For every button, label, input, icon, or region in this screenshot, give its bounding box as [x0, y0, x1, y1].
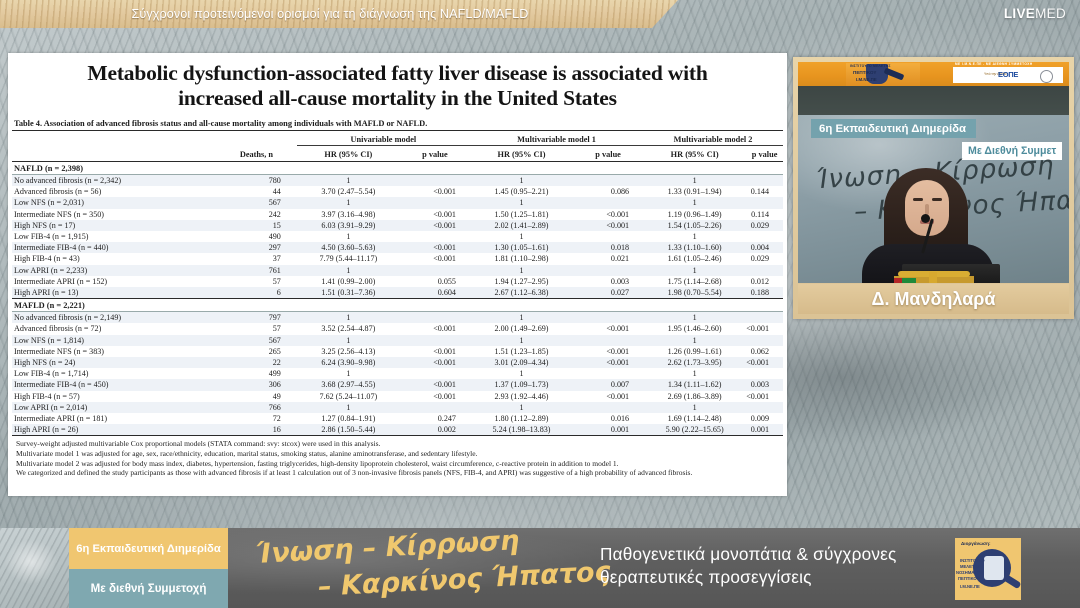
table-cell	[573, 312, 643, 324]
table-cell: High FIB-4 (n = 43)	[12, 253, 216, 264]
table-cell: 0.055	[400, 276, 470, 287]
table-cell: 49	[216, 391, 297, 402]
table-cell: 2.67 (1.12–6.38)	[470, 287, 573, 299]
table-cell	[400, 265, 470, 276]
table-cell: Low FIB-4 (n = 1,714)	[12, 368, 216, 379]
footer-main-line-2: θεραπευτικές προσεγγίσεις	[600, 566, 896, 589]
table-cell: <0.001	[400, 323, 470, 334]
table-cell: Advanced fibrosis (n = 72)	[12, 323, 216, 334]
table-cell: 567	[216, 197, 297, 208]
table-row: No advanced fibrosis (n = 2,149)797111	[12, 312, 783, 324]
group-header-model1: Multivariable model 1	[470, 131, 643, 146]
table-cell: 0.086	[573, 186, 643, 197]
table-cell: 1.37 (1.09–1.73)	[470, 379, 573, 390]
table-row: High APRI (n = 13)61.51 (0.31–7.36)0.604…	[12, 287, 783, 299]
table-row: Low APRI (n = 2,233)761111	[12, 265, 783, 276]
table-cell: 1	[297, 231, 400, 242]
section-label: NAFLD (n = 2,398)	[12, 162, 783, 175]
video-top-banner: ΙΝΣΤΙΤΟΥΤΟ ΜΕΛΕΤΗΣ ΠΕΠΤΙΚΟΥ Ι.Μ.ΝΕ.ΠΕ ΜΕ…	[798, 62, 1069, 87]
table-cell: 1	[297, 197, 400, 208]
table-row: High FIB-4 (n = 57)497.62 (5.24–11.07)<0…	[12, 391, 783, 402]
group-header-model2: Multivariable model 2	[643, 131, 783, 146]
table-cell: Low FIB-4 (n = 1,915)	[12, 231, 216, 242]
crest-text-3: Ι.Μ.ΝΕ.ΠΕ	[856, 77, 877, 82]
table-cell: 6	[216, 287, 297, 299]
table-cell: 1.98 (0.70–5.54)	[643, 287, 746, 299]
table-cell: 1	[297, 312, 400, 324]
table-cell: 0.021	[573, 253, 643, 264]
table-cell: 1.30 (1.05–1.61)	[470, 242, 573, 253]
table-row: No advanced fibrosis (n = 2,342)780111	[12, 175, 783, 187]
table-row: Intermediate NFS (n = 350)2423.97 (3.16–…	[12, 209, 783, 220]
table-cell: 57	[216, 323, 297, 334]
col-header-p-m2: p value	[746, 146, 783, 162]
logo-line-5: Ι.Μ.ΝΕ.ΠΕ	[960, 584, 980, 589]
table-cell: 761	[216, 265, 297, 276]
table-cell: 2.86 (1.50–5.44)	[297, 424, 400, 436]
table-cell: <0.001	[400, 186, 470, 197]
table-cell: Intermediate FIB-4 (n = 440)	[12, 242, 216, 253]
table-cell: 3.68 (2.97–4.55)	[297, 379, 400, 390]
table-cell: Intermediate NFS (n = 350)	[12, 209, 216, 220]
crest-text-1: ΙΝΣΤΙΤΟΥΤΟ ΜΕΛΕΤΗΣ	[850, 64, 891, 68]
crest-text-2: ΠΕΠΤΙΚΟΥ	[853, 70, 876, 75]
table-cell: 1	[297, 335, 400, 346]
table-cell: 1	[470, 312, 573, 324]
footnote-1: Survey-weight adjusted multivariable Cox…	[16, 439, 777, 449]
table-cell: <0.001	[746, 391, 783, 402]
video-frame[interactable]: 6η Εκπαιδευτική Διημερίδα Με Διεθνή Συμμ…	[798, 86, 1069, 283]
table-cell: 1	[643, 231, 746, 242]
table-cell: <0.001	[573, 209, 643, 220]
table-cell: 2.62 (1.73–3.95)	[643, 357, 746, 368]
livemed-light: MED	[1035, 6, 1066, 21]
table-cell: 0.247	[400, 413, 470, 424]
table-cell: Intermediate NFS (n = 383)	[12, 346, 216, 357]
footnote-4: We categorized and defined the study par…	[16, 468, 777, 478]
table-cell: 1.33 (0.91–1.94)	[643, 186, 746, 197]
table-cell: 3.97 (3.16–4.98)	[297, 209, 400, 220]
table-cell: 1.95 (1.46–2.60)	[643, 323, 746, 334]
table-cell: <0.001	[400, 379, 470, 390]
footer-banner: 6η Εκπαιδευτική Διημερίδα Με διεθνή Συμμ…	[0, 528, 1080, 608]
table-cell: 1	[470, 175, 573, 187]
table-row: High NFS (n = 24)226.24 (3.90–9.98)<0.00…	[12, 357, 783, 368]
table-cell: 1	[643, 312, 746, 324]
table-section-header: NAFLD (n = 2,398)	[12, 162, 783, 175]
results-table: Univariable model Multivariable model 1 …	[12, 130, 783, 436]
table-cell: 1	[470, 402, 573, 413]
table-cell: 1	[297, 265, 400, 276]
microphone-icon	[921, 214, 930, 223]
table-cell: 0.029	[746, 220, 783, 231]
table-cell: 0.144	[746, 186, 783, 197]
table-cell: Advanced fibrosis (n = 56)	[12, 186, 216, 197]
table-cell: <0.001	[400, 357, 470, 368]
table-cell: 7.79 (5.44–11.17)	[297, 253, 400, 264]
organizer-logo: Διοργάνωση: ΙΝΣΤΙΤΟΥΤΟ ΜΕΛΕΤΗΣ ΝΟΣΗΜΑΤΩΝ…	[955, 538, 1021, 600]
table-cell	[573, 335, 643, 346]
table-cell: 1	[643, 335, 746, 346]
table-cell: <0.001	[573, 391, 643, 402]
table-cell: 1	[643, 265, 746, 276]
table-row: Intermediate APRI (n = 181)721.27 (0.84–…	[12, 413, 783, 424]
table-cell: <0.001	[573, 323, 643, 334]
table-cell: <0.001	[573, 346, 643, 357]
table-cell: 1.75 (1.14–2.68)	[643, 276, 746, 287]
session-title: Σύγχρονοι προτεινόμενοι ορισμοί για τη δ…	[0, 0, 660, 28]
table-cell: 499	[216, 368, 297, 379]
table-cell: 567	[216, 335, 297, 346]
col-header-p-m1: p value	[573, 146, 643, 162]
table-cell: <0.001	[400, 391, 470, 402]
table-cell: 0.009	[746, 413, 783, 424]
table-cell: 0.604	[400, 287, 470, 299]
table-cell	[573, 175, 643, 187]
section-label: MAFLD (n = 2,221)	[12, 299, 783, 312]
table-cell: <0.001	[400, 220, 470, 231]
col-header-p-uni: p value	[400, 146, 470, 162]
table-cell: 16	[216, 424, 297, 436]
table-cell: 265	[216, 346, 297, 357]
table-cell: <0.001	[746, 323, 783, 334]
table-cell: 0.003	[746, 379, 783, 390]
table-cell: 1.51 (1.23–1.85)	[470, 346, 573, 357]
table-cell: 1.26 (0.99–1.61)	[643, 346, 746, 357]
table-footnotes: Survey-weight adjusted multivariable Cox…	[12, 436, 783, 477]
podium-green-light	[902, 278, 916, 283]
logo-magnifier-handle-icon	[1003, 574, 1022, 589]
table-cell: 3.01 (2.09–4.34)	[470, 357, 573, 368]
table-cell: Low APRI (n = 2,014)	[12, 402, 216, 413]
video-overlay-tag-1: 6η Εκπαιδευτική Διημερίδα	[811, 119, 976, 138]
footer-artwork	[0, 528, 69, 608]
table-row: Low FIB-4 (n = 1,714)499111	[12, 368, 783, 379]
table-row: Low NFS (n = 1,814)567111	[12, 335, 783, 346]
col-header-blank	[12, 146, 216, 162]
table-cell: Intermediate APRI (n = 181)	[12, 413, 216, 424]
table-cell: No advanced fibrosis (n = 2,342)	[12, 175, 216, 187]
table-cell	[746, 197, 783, 208]
footnote-2: Multivariate model 1 was adjusted for ag…	[16, 449, 777, 459]
logo-line-2: ΜΕΛΕΤΗΣ	[960, 564, 980, 569]
table-cell	[400, 197, 470, 208]
table-cell: Intermediate APRI (n = 152)	[12, 276, 216, 287]
table-cell	[746, 402, 783, 413]
table-cell: 5.90 (2.22–15.65)	[643, 424, 746, 436]
table-cell: 57	[216, 276, 297, 287]
table-cell: High APRI (n = 13)	[12, 287, 216, 299]
table-cell: 780	[216, 175, 297, 187]
footer-main-line-1: Παθογενετικά μονοπάτια & σύγχρονες	[600, 543, 896, 566]
table-cell: Low NFS (n = 2,031)	[12, 197, 216, 208]
table-cell: 1.50 (1.25–1.81)	[470, 209, 573, 220]
table-cell: High APRI (n = 26)	[12, 424, 216, 436]
table-cell: 2.69 (1.86–3.89)	[643, 391, 746, 402]
livemed-logo: LIVEMED	[1004, 6, 1066, 21]
table-cell	[573, 197, 643, 208]
group-header-row: Univariable model Multivariable model 1 …	[12, 131, 783, 146]
table-row: High NFS (n = 17)156.03 (3.91–9.29)<0.00…	[12, 220, 783, 231]
table-cell: 242	[216, 209, 297, 220]
table-cell	[573, 265, 643, 276]
seal-icon	[1040, 70, 1053, 83]
table-cell: 1.33 (1.10–1.60)	[643, 242, 746, 253]
table-cell: 37	[216, 253, 297, 264]
organizer-label: Διοργάνωση:	[961, 541, 991, 546]
table-cell	[573, 368, 643, 379]
table-cell: No advanced fibrosis (n = 2,149)	[12, 312, 216, 324]
table-row: Intermediate NFS (n = 383)2653.25 (2.56–…	[12, 346, 783, 357]
livemed-bold: LIVE	[1004, 6, 1035, 21]
table-cell: 0.003	[573, 276, 643, 287]
table-cell: 3.52 (2.54–4.87)	[297, 323, 400, 334]
table-cell: 0.114	[746, 209, 783, 220]
table-cell: 0.001	[573, 424, 643, 436]
speaker-eye-right	[932, 198, 942, 201]
table-head: Univariable model Multivariable model 1 …	[12, 131, 783, 162]
slide-title: Metabolic dysfunction-associated fatty l…	[8, 53, 787, 116]
presentation-slide: Metabolic dysfunction-associated fatty l…	[8, 53, 787, 496]
table-cell: 7.62 (5.24–11.07)	[297, 391, 400, 402]
table-cell: Intermediate FIB-4 (n = 450)	[12, 379, 216, 390]
table-cell	[746, 312, 783, 324]
table-cell: 1.81 (1.10–2.98)	[470, 253, 573, 264]
table-row: High FIB-4 (n = 43)377.79 (5.44–11.17)<0…	[12, 253, 783, 264]
speaker-eye-left	[913, 198, 923, 201]
table-cell: 1.41 (0.99–2.00)	[297, 276, 400, 287]
table-cell: 4.50 (3.60–5.63)	[297, 242, 400, 253]
logo-line-4: ΠΕΠΤΙΚΟΥ	[958, 576, 979, 581]
table-cell: 2.02 (1.41–2.89)	[470, 220, 573, 231]
table-row: Low FIB-4 (n = 1,915)490111	[12, 231, 783, 242]
table-row: High APRI (n = 26)162.86 (1.50–5.44)0.00…	[12, 424, 783, 436]
table-cell	[746, 265, 783, 276]
stage-dark-band	[798, 86, 1069, 115]
table-cell: 297	[216, 242, 297, 253]
table-cell	[400, 312, 470, 324]
table-cell	[400, 231, 470, 242]
table-cell	[573, 402, 643, 413]
top-header-bar: Σύγχρονοι προτεινόμενοι ορισμοί για τη δ…	[0, 0, 1080, 28]
col-header-hr-m2: HR (95% CI)	[643, 146, 746, 162]
table-cell: 306	[216, 379, 297, 390]
table-cell: 1	[470, 231, 573, 242]
table-cell: <0.001	[400, 253, 470, 264]
table-cell: 766	[216, 402, 297, 413]
table-cell: 72	[216, 413, 297, 424]
table-cell: <0.001	[400, 346, 470, 357]
table-cell: 2.93 (1.92–4.46)	[470, 391, 573, 402]
table-cell: 0.001	[746, 424, 783, 436]
podium-stem	[929, 272, 937, 283]
table-cell: High NFS (n = 17)	[12, 220, 216, 231]
table-cell: Low NFS (n = 1,814)	[12, 335, 216, 346]
table-cell: 0.012	[746, 276, 783, 287]
table-cell: 1.61 (1.05–2.46)	[643, 253, 746, 264]
table-cell: 1	[470, 265, 573, 276]
table-cell: <0.001	[573, 220, 643, 231]
table-cell: 6.03 (3.91–9.29)	[297, 220, 400, 231]
table-cell: 1.45 (0.95–2.21)	[470, 186, 573, 197]
table-cell: Low APRI (n = 2,233)	[12, 265, 216, 276]
table-cell: 1.80 (1.12–2.89)	[470, 413, 573, 424]
table-row: Low NFS (n = 2,031)567111	[12, 197, 783, 208]
col-header-hr-uni: HR (95% CI)	[297, 146, 400, 162]
table-row: Advanced fibrosis (n = 72)573.52 (2.54–4…	[12, 323, 783, 334]
table-row: Intermediate FIB-4 (n = 450)3063.68 (2.9…	[12, 379, 783, 390]
table-cell: 1	[643, 368, 746, 379]
table-cell: 1.69 (1.14–2.48)	[643, 413, 746, 424]
table-cell	[573, 231, 643, 242]
table-cell	[400, 402, 470, 413]
table-cell: 0.027	[573, 287, 643, 299]
table-cell: 490	[216, 231, 297, 242]
table-cell: <0.001	[400, 242, 470, 253]
table-cell: <0.001	[400, 209, 470, 220]
speaker-name: Δ. Μανδηλαρά	[798, 284, 1069, 314]
table-cell	[400, 335, 470, 346]
table-cell: 44	[216, 186, 297, 197]
table-cell	[746, 335, 783, 346]
table-cell: 0.007	[573, 379, 643, 390]
table-cell	[400, 368, 470, 379]
table-cell: 1	[470, 335, 573, 346]
table-cell: 1	[297, 402, 400, 413]
table-cell: 1.34 (1.11–1.62)	[643, 379, 746, 390]
table-cell: 6.24 (3.90–9.98)	[297, 357, 400, 368]
banner-top-text: ΜΕ Ι.Μ.Ν.Ε.ΠΕ - ΜΕ ΔΙΕΘΝΗ ΣΥΜΜΕΤΟΧΗ	[955, 62, 1033, 66]
table-cell: High NFS (n = 24)	[12, 357, 216, 368]
table-cell: 3.70 (2.47–5.54)	[297, 186, 400, 197]
table-cell: 1	[643, 175, 746, 187]
col-header-deaths: Deaths, n	[216, 146, 297, 162]
table-cell: 0.016	[573, 413, 643, 424]
table-cell: 1	[643, 197, 746, 208]
table-cell: 1	[470, 197, 573, 208]
table-cell: <0.001	[746, 357, 783, 368]
table-row: Advanced fibrosis (n = 56)443.70 (2.47–5…	[12, 186, 783, 197]
table-row: Low APRI (n = 2,014)766111	[12, 402, 783, 413]
table-section-header: MAFLD (n = 2,221)	[12, 299, 783, 312]
table-cell: 1	[297, 175, 400, 187]
table-row: Intermediate APRI (n = 152)571.41 (0.99–…	[12, 276, 783, 287]
table-cell: 0.062	[746, 346, 783, 357]
table-cell: 1	[470, 368, 573, 379]
footer-main-text: Παθογενετικά μονοπάτια & σύγχρονες θεραπ…	[600, 543, 896, 589]
table-row: Intermediate FIB-4 (n = 440)2974.50 (3.6…	[12, 242, 783, 253]
column-header-row: Deaths, n HR (95% CI) p value HR (95% CI…	[12, 146, 783, 162]
table-cell: 0.018	[573, 242, 643, 253]
table-cell: 22	[216, 357, 297, 368]
table-cell: <0.001	[573, 357, 643, 368]
table-cell	[746, 175, 783, 187]
table-cell: 0.002	[400, 424, 470, 436]
table-cell: 1	[297, 368, 400, 379]
table-body: NAFLD (n = 2,398)No advanced fibrosis (n…	[12, 162, 783, 437]
group-header-univariable: Univariable model	[297, 131, 470, 146]
table-cell: 5.24 (1.98–13.83)	[470, 424, 573, 436]
table-cell: 0.004	[746, 242, 783, 253]
table-cell: 1.19 (0.96–1.49)	[643, 209, 746, 220]
table-container: Table 4. Association of advanced fibrosi…	[8, 116, 787, 478]
table-cell: 15	[216, 220, 297, 231]
table-cell: 1.94 (1.27–2.95)	[470, 276, 573, 287]
table-cell: 3.25 (2.56–4.13)	[297, 346, 400, 357]
footer-tag-2: Με διεθνή Συμμετοχή	[69, 569, 228, 608]
table-cell: 1.54 (1.05–2.26)	[643, 220, 746, 231]
table-cell: 1.27 (0.84–1.91)	[297, 413, 400, 424]
table-cell: 2.00 (1.49–2.69)	[470, 323, 573, 334]
table-cell: 0.029	[746, 253, 783, 264]
speaker-video-panel[interactable]: ΙΝΣΤΙΤΟΥΤΟ ΜΕΛΕΤΗΣ ΠΕΠΤΙΚΟΥ Ι.Μ.ΝΕ.ΠΕ ΜΕ…	[793, 57, 1074, 319]
footnote-3: Multivariate model 2 was adjusted for bo…	[16, 459, 777, 469]
table-caption: Table 4. Association of advanced fibrosi…	[12, 116, 783, 130]
table-cell	[400, 175, 470, 187]
table-cell: 1	[643, 402, 746, 413]
col-header-hr-m1: HR (95% CI)	[470, 146, 573, 162]
footer-tag-1: 6η Εκπαιδευτική Διημερίδα	[69, 528, 228, 569]
table-cell: 797	[216, 312, 297, 324]
table-cell	[746, 368, 783, 379]
table-cell: 1.51 (0.31–7.36)	[297, 287, 400, 299]
logo-inner-shape	[984, 556, 1004, 580]
table-cell: High FIB-4 (n = 57)	[12, 391, 216, 402]
logo-line-1: ΙΝΣΤΙΤΟΥΤΟ	[960, 558, 985, 563]
eope-logo: ΕΟΠΕ	[998, 70, 1018, 79]
table-cell: 0.188	[746, 287, 783, 299]
logo-line-3: ΝΟΣΗΜΑΤΩΝ	[956, 570, 983, 575]
table-cell	[746, 231, 783, 242]
